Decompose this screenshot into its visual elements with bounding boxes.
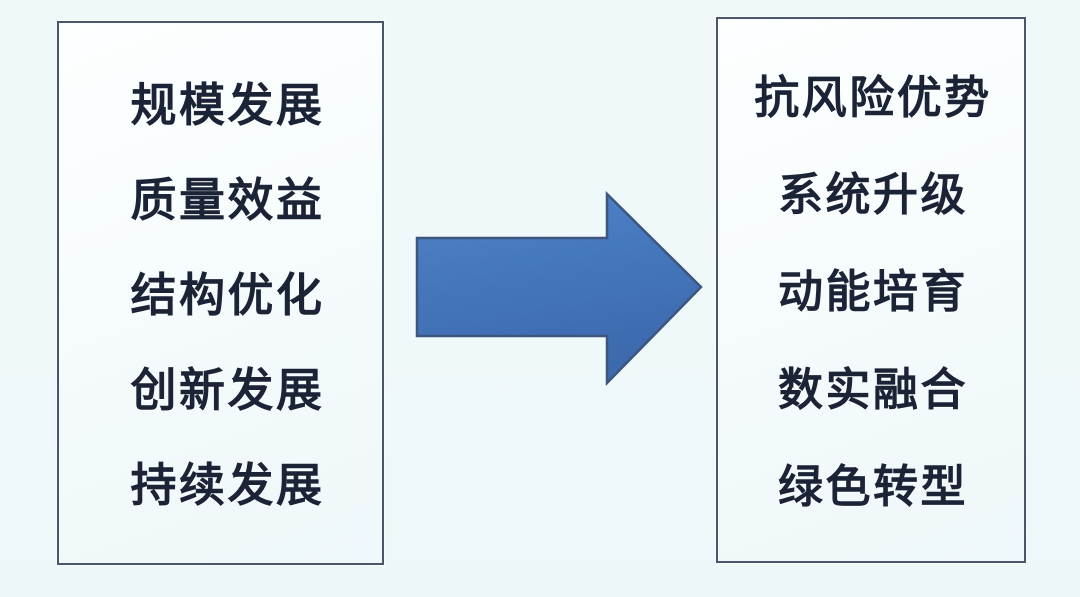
list-item: 持续发展 [116,462,324,508]
list-item: 绿色转型 [774,464,968,509]
list-item: 数实融合 [774,367,968,412]
right-arrow-icon [413,190,705,388]
target-outcomes-panel: 抗风险优势 系统升级 动能培育 数实融合 绿色转型 [716,17,1026,563]
source-dimensions-panel: 规模发展 质量效益 结构优化 创新发展 持续发展 [57,21,384,565]
list-item: 结构优化 [116,272,324,318]
list-item: 质量效益 [116,177,324,223]
list-item: 系统升级 [774,172,968,217]
transformation-arrow [413,190,705,388]
list-item: 创新发展 [116,367,324,413]
diagram-canvas: 规模发展 质量效益 结构优化 创新发展 持续发展 抗风险优势 系统升级 动能培育… [0,0,1080,597]
list-item: 规模发展 [116,82,324,128]
list-item: 动能培育 [774,269,968,314]
list-item: 抗风险优势 [750,75,991,120]
